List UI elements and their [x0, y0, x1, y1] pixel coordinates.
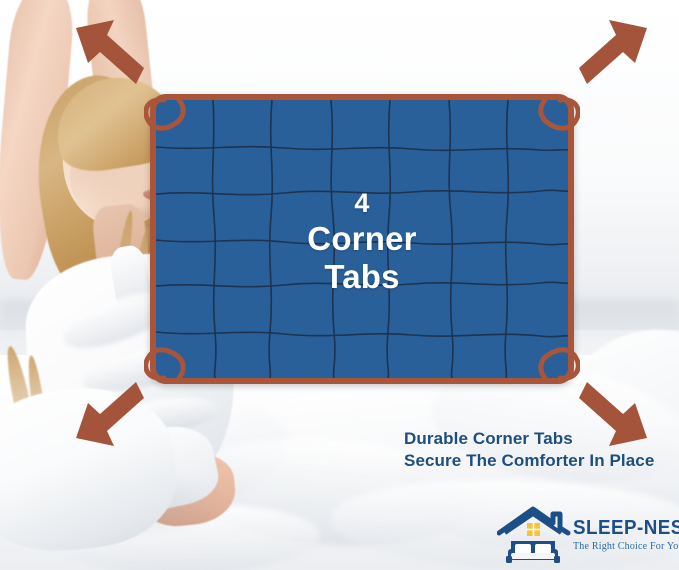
caption-line-2: Secure The Comforter In Place — [404, 450, 654, 472]
feature-caption: Durable Corner Tabs Secure The Comforter… — [404, 428, 654, 473]
comforter-body: 4 Corner Tabs — [150, 94, 574, 384]
house-with-bed-icon — [497, 506, 571, 564]
product-feature-image: 4 Corner Tabs Durable Corner Tabs Secure — [0, 0, 679, 570]
caption-line-1: Durable Corner Tabs — [404, 428, 654, 450]
brand-text: SLEEP-NEST The Right Choice For You — [573, 518, 679, 552]
comforter-graphic: 4 Corner Tabs — [144, 88, 580, 390]
brand-name: SLEEP-NEST — [573, 518, 679, 538]
brand-tagline: The Right Choice For You — [573, 542, 679, 552]
quilt-stitch-pattern — [156, 100, 568, 378]
brand-logo: SLEEP-NEST The Right Choice For You — [497, 505, 673, 565]
